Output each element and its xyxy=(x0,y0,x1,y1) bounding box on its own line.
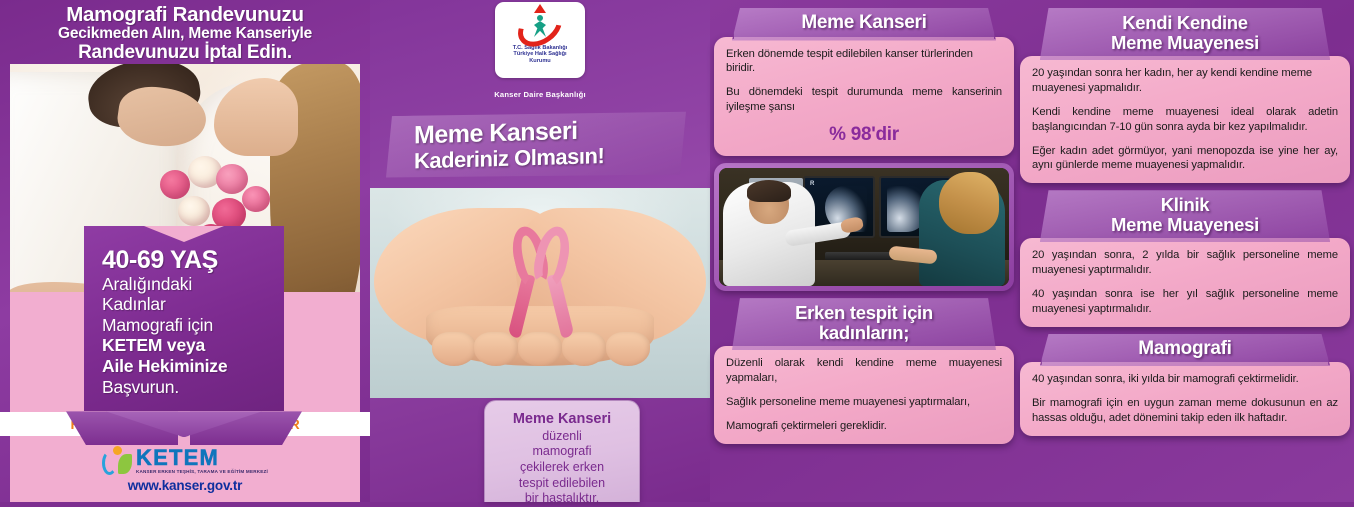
ketem-figure-icon xyxy=(102,446,132,476)
clinical-exam-card: 20 yaşından sonra, 2 yılda bir sağlık pe… xyxy=(1020,238,1350,327)
clinical-exam-banner-line-1: Klinik xyxy=(1048,195,1322,215)
mammography-card: 40 yaşından sonra, iki yılda bir mamogra… xyxy=(1020,362,1350,436)
ministry-of-health-logo: T.C. Sağlık Bakanlığı Türkiye Halk Sağlı… xyxy=(495,2,585,78)
mammography-module: Mamografi 40 yaşından sonra, iki yılda b… xyxy=(1020,334,1350,436)
ministry-department-caption: Kanser Daire Başkanlığı xyxy=(370,90,710,99)
early-detection-banner-line-2: kadınların; xyxy=(740,323,988,343)
left-header-line-3: Randevunuzu İptal Edin. xyxy=(78,43,292,64)
early-detection-module: Erken tespit için kadınların; Düzenli ol… xyxy=(714,298,1014,444)
age-banner-line-4: KETEM veya xyxy=(102,335,268,356)
ketem-tagline: KANSER ERKEN TEŞHİS, TARAMA VE EĞİTİM ME… xyxy=(136,469,268,474)
self-exam-paragraph-1: 20 yaşından sonra her kadın, her ay kend… xyxy=(1032,66,1338,96)
age-banner-line-6: Başvurun. xyxy=(102,377,268,398)
clinical-exam-module: Klinik Meme Muayenesi 20 yaşından sonra,… xyxy=(1020,190,1350,327)
mammography-paragraph-2: Bir mamografi için en uygun zaman meme d… xyxy=(1032,396,1338,426)
doctor-photo-card: R L xyxy=(714,163,1014,291)
age-range-banner: 40-69 YAŞ Aralığındaki Kadınlar Mamograf… xyxy=(84,226,284,447)
early-detection-paragraph-3: Mamografi çektirmeleri gereklidir. xyxy=(726,419,1002,434)
hands-holding-pink-ribbon-photo xyxy=(370,188,710,398)
survival-rate-value: % 98'dir xyxy=(726,124,1002,146)
left-header-line-2: Gecikmeden Alın, Meme Kanseriyle xyxy=(58,25,312,43)
self-exam-banner: Kendi Kendine Meme Muayenesi xyxy=(1040,8,1330,60)
left-panel-header: Mamografi Randevunuzu Gecikmeden Alın, M… xyxy=(0,0,370,64)
doctor-reviewing-mammogram-with-patient-photo: R L xyxy=(719,168,1009,286)
center-note-card: Meme Kanseri düzenli mamografi çekilerek… xyxy=(484,400,640,502)
early-detection-banner-line-1: Erken tespit için xyxy=(740,303,988,323)
self-exam-paragraph-3: Eğer kadın adet görmüyor, yani menopozda… xyxy=(1032,144,1338,174)
center-note-line-3: çekilerek erken xyxy=(495,460,629,476)
mammography-paragraph-1: 40 yaşından sonra, iki yılda bir mamogra… xyxy=(1032,372,1338,387)
banner-ribbon-tails xyxy=(84,411,284,447)
self-exam-module: Kendi Kendine Meme Muayenesi 20 yaşından… xyxy=(1020,8,1350,183)
clinical-exam-paragraph-1: 20 yaşından sonra, 2 yılda bir sağlık pe… xyxy=(1032,248,1338,278)
breast-cancer-banner: Meme Kanseri xyxy=(732,8,996,41)
mammography-banner-title: Mamografi xyxy=(1048,339,1322,360)
age-banner-line-2: Kadınlar xyxy=(102,294,268,315)
age-range-text: 40-69 YAŞ xyxy=(102,248,268,274)
mammogram-label-right: R xyxy=(810,181,814,187)
ministry-emblem-icon xyxy=(514,6,566,44)
early-detection-card: Düzenli olarak kendi kendine meme muayen… xyxy=(714,346,1014,444)
breast-cancer-module: Meme Kanseri Erken dönemde tespit edileb… xyxy=(714,8,1014,156)
self-exam-paragraph-2: Kendi kendine meme muayenesi ideal olara… xyxy=(1032,105,1338,135)
patient-hair xyxy=(939,172,999,234)
early-detection-paragraph-1: Düzenli olarak kendi kendine meme muayen… xyxy=(726,356,1002,386)
clinical-exam-banner: Klinik Meme Muayenesi xyxy=(1040,190,1330,242)
center-note-line-5: bir hastalıktır. xyxy=(495,491,629,507)
center-note-line-2: mamografi xyxy=(495,444,629,460)
left-panel: Mamografi Randevunuzu Gecikmeden Alın, M… xyxy=(0,0,370,502)
clinical-exam-banner-line-2: Meme Muayenesi xyxy=(1048,215,1322,235)
doctor-hair xyxy=(747,180,791,202)
ketem-website-url[interactable]: www.kanser.gov.tr xyxy=(128,478,242,493)
ketem-logo: KETEM KANSER ERKEN TEŞHİS, TARAMA VE EĞİ… xyxy=(102,446,268,476)
breast-cancer-paragraph-2: Bu dönemdeki tespit durumunda meme kanse… xyxy=(726,85,1002,115)
right-content-area: Meme Kanseri Erken dönemde tespit edileb… xyxy=(710,0,1354,502)
right-middle-column: Meme Kanseri Erken dönemde tespit edileb… xyxy=(714,8,1014,502)
center-note-line-4: tespit edilebilen xyxy=(495,476,629,492)
center-title-banner: Meme Kanseri Kaderiniz Olmasın! xyxy=(386,108,686,183)
age-banner-line-3: Mamografi için xyxy=(102,315,268,336)
ketem-wordmark: KETEM KANSER ERKEN TEŞHİS, TARAMA VE EĞİ… xyxy=(136,447,268,474)
age-banner-line-1: Aralığındaki xyxy=(102,274,268,295)
breast-cancer-awareness-poster: Mamografi Randevunuzu Gecikmeden Alın, M… xyxy=(0,0,1354,502)
left-header-line-1: Mamografi Randevunuzu xyxy=(66,4,303,26)
age-banner-line-5: Aile Hekiminize xyxy=(102,356,268,377)
self-exam-card: 20 yaşından sonra her kadın, her ay kend… xyxy=(1020,56,1350,183)
ketem-name: KETEM xyxy=(136,447,268,469)
right-far-column: Kendi Kendine Meme Muayenesi 20 yaşından… xyxy=(1020,8,1350,502)
mammography-banner: Mamografi xyxy=(1040,334,1330,367)
center-panel: T.C. Sağlık Bakanlığı Türkiye Halk Sağlı… xyxy=(370,0,710,502)
banner-notch xyxy=(144,226,224,242)
early-detection-paragraph-2: Sağlık personeline meme muayenesi yaptır… xyxy=(726,395,1002,410)
breast-cancer-paragraph-1: Erken dönemde tespit edilebilen kanser t… xyxy=(726,47,1002,77)
clinical-exam-paragraph-2: 40 yaşından sonra ise her yıl sağlık per… xyxy=(1032,287,1338,317)
early-detection-banner: Erken tespit için kadınların; xyxy=(732,298,996,350)
self-exam-banner-line-1: Kendi Kendine xyxy=(1048,13,1322,33)
center-note-line-1: düzenli xyxy=(495,429,629,445)
center-note-title: Meme Kanseri xyxy=(495,411,629,428)
ministry-name-line-3: Kurumu xyxy=(529,58,550,65)
breast-cancer-banner-title: Meme Kanseri xyxy=(740,13,988,34)
age-banner-body: 40-69 YAŞ Aralığındaki Kadınlar Mamograf… xyxy=(84,226,284,411)
breast-cancer-card: Erken dönemde tespit edilebilen kanser t… xyxy=(714,37,1014,157)
self-exam-banner-line-2: Meme Muayenesi xyxy=(1048,33,1322,53)
ministry-name-line-2: Türkiye Halk Sağlığı xyxy=(513,51,566,58)
pink-awareness-ribbon-icon xyxy=(510,226,572,344)
